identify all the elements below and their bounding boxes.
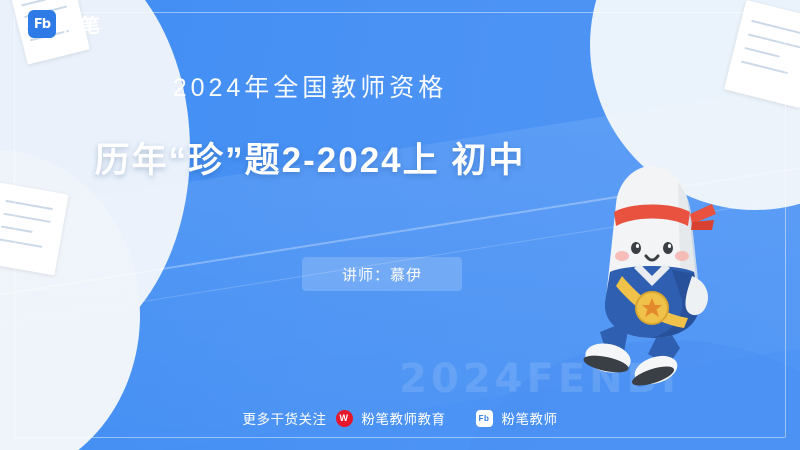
lecturer-badge: 讲师：慕伊	[302, 257, 462, 291]
footer-prefix: 更多干货关注	[243, 408, 327, 428]
slide-subtitle: 2024年全国教师资格	[0, 68, 620, 104]
footer-fenbi-name: 粉笔教师	[502, 408, 558, 428]
footer-weibo-name: 粉笔教师教育	[362, 408, 446, 428]
fenbi-app-icon[interactable]: Fb	[476, 410, 493, 427]
footer-bar: 更多干货关注 W 粉笔教师教育 Fb 粉笔教师	[0, 408, 800, 428]
brand-logo-text: 粉笔	[61, 11, 101, 38]
slide-title: 历年“珍”题2-2024上 初中	[0, 132, 620, 183]
fenbi-mascot-icon	[552, 152, 752, 392]
brand-logo: Fb 粉笔	[28, 10, 101, 38]
slide-canvas: 2024FENBI Fb 粉笔 2024年全国教师资格 历年“珍”题2-2024…	[0, 0, 800, 450]
weibo-icon[interactable]: W	[336, 410, 353, 427]
fenbi-logo-icon: Fb	[28, 10, 56, 38]
